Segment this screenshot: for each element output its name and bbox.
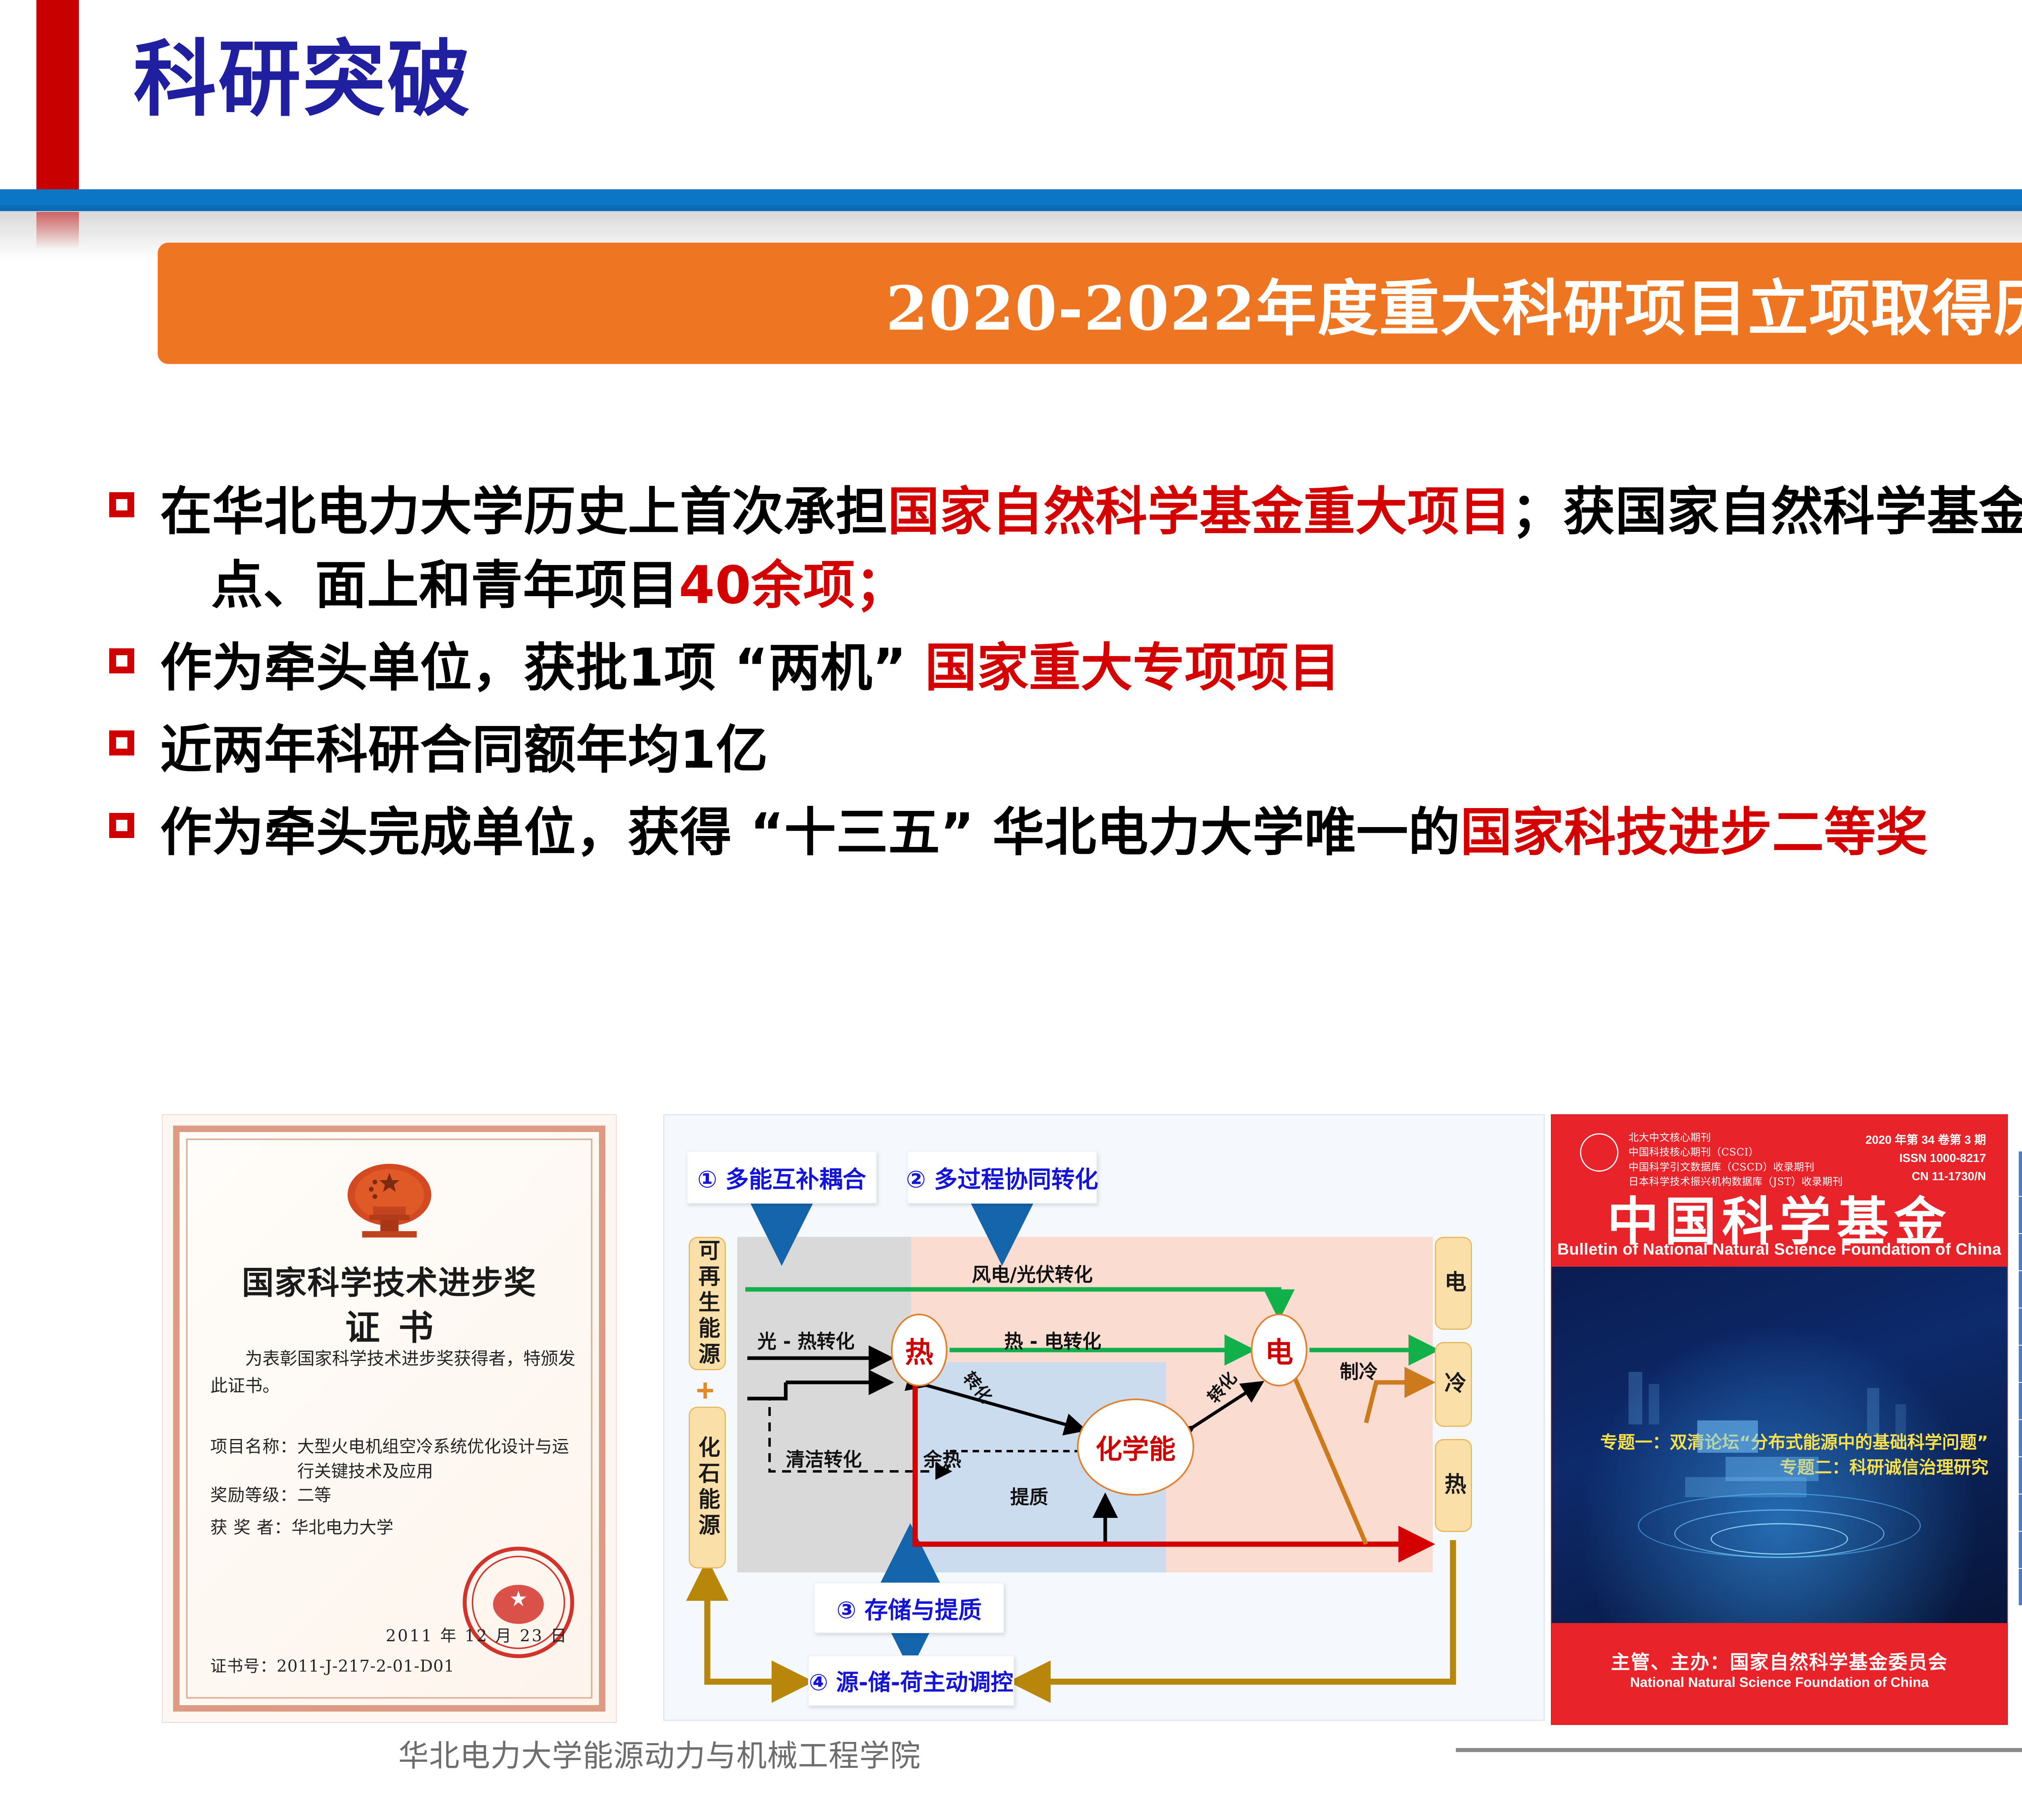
certificate-field-value: 华北电力大学 bbox=[292, 1515, 580, 1540]
diagram-label-wind-pv: 风电/光伏转化 bbox=[972, 1259, 1093, 1287]
banner-title: 2020-2022年度重大科研项目立项取得历史性突破 bbox=[886, 260, 2022, 347]
bullet-square-icon bbox=[109, 492, 134, 517]
certificate-field-recipient: 获 奖 者： 华北电力大学 bbox=[210, 1515, 580, 1540]
journal-issue-meta: 2020 年第 34 卷第 3 期 ISSN 1000-8217 CN 11-1… bbox=[1865, 1131, 1986, 1186]
journal-issue-line: 2020 年第 34 卷第 3 期 bbox=[1865, 1131, 1986, 1149]
diagram-label-photothermal: 光 - 热转化 bbox=[757, 1326, 854, 1354]
table-row-label: 马克思主义学院 bbox=[2018, 1568, 2022, 1606]
artwork-turbine bbox=[1867, 1388, 1879, 1437]
journal-index-badge-icon bbox=[1580, 1133, 1618, 1172]
table-row: 经济与管理学院9060139010451699549.40% bbox=[2018, 1308, 2022, 1345]
bullet-3-line1-pre: 近两年科研合同额年均1亿 bbox=[160, 720, 768, 780]
certificate-number-value: 2011-J-217-2-01-D01 bbox=[277, 1657, 455, 1676]
diagram-stage-1: ① 多能互补耦合 bbox=[687, 1151, 877, 1204]
bullet-text: 近两年科研合同额年均1亿 bbox=[160, 713, 768, 787]
certificate-number-key: 证书号： bbox=[210, 1657, 277, 1676]
diagram-label-upgrade: 提质 bbox=[1010, 1481, 1048, 1509]
bullet-text: 作为牵头完成单位，获得 “十三五” 华北电力大学唯一的国家科技进步二等奖 bbox=[160, 796, 1928, 870]
bullet-2-line1-highlight: 国家重大专项项目 bbox=[925, 638, 1341, 698]
diagram-plus-icon: + bbox=[696, 1374, 715, 1406]
table-row-label: 环境科学与工程学院 bbox=[2018, 1420, 2022, 1457]
slide-header: 科研突破 1858 华北电力大学 NORTH CHINA ELECTRIC PO… bbox=[0, 0, 2022, 210]
journal-index-item: 中国科技核心期刊（CSCI） bbox=[1629, 1145, 1843, 1160]
table-row-label: 电气与电子工程学院 bbox=[2018, 1196, 2022, 1234]
bullet-item: 作为牵头单位，获批1项 “两机” 国家重大专项项目 bbox=[109, 631, 2022, 705]
certificate-body-text: 为表彰国家科学技术进步奖获得者，特颁发此证书。 bbox=[210, 1346, 575, 1399]
table-row-label: 人文与社会科学学院 bbox=[2018, 1494, 2022, 1531]
bullet-square-icon bbox=[109, 648, 134, 673]
table-row-label: 外国语学院 bbox=[2018, 1531, 2022, 1568]
journal-footer-band: 主管、主办：国家自然科学基金委员会 National Natural Scien… bbox=[1552, 1623, 2007, 1724]
diagram-stage-3: ③ 存储与提质 bbox=[814, 1583, 1004, 1633]
journal-index-item: 北大中文核心期刊 bbox=[1629, 1130, 1843, 1145]
bullet-item: 在华北电力大学历史上首次承担国家自然科学基金重大项目；获国家自然科学基金重 点、… bbox=[109, 475, 2022, 622]
certificate-field-value: 二等 bbox=[297, 1483, 580, 1508]
certificate-number: 证书号：2011-J-217-2-01-D01 bbox=[210, 1653, 455, 1676]
certificate-field-project: 项目名称： 大型火电机组空冷系统优化设计与运行关键技术及应用 bbox=[210, 1435, 580, 1484]
bullet-item: 作为牵头完成单位，获得 “十三五” 华北电力大学唯一的国家科技进步二等奖 bbox=[109, 796, 2022, 870]
artwork-tower bbox=[1629, 1372, 1642, 1424]
certificate-body: 为表彰国家科学技术进步奖获得者，特颁发此证书。 bbox=[210, 1346, 575, 1399]
header-blue-rule-shadow bbox=[0, 205, 2022, 211]
table-row: 核科学与工程学院131725813897331417.60% bbox=[2018, 1382, 2022, 1420]
bullet-1-line1-highlight: 国家自然科学基金重大项目 bbox=[888, 482, 1511, 542]
header-blue-rule bbox=[0, 189, 2022, 205]
table-corner-label: 北京 bbox=[2018, 1151, 2022, 1196]
slide-footer: 华北电力大学能源动力与机械工程学院 Page.30 bbox=[0, 1719, 2022, 1820]
artwork-turbine bbox=[1895, 1404, 1906, 1445]
table-row: 马克思主义学院22567816387.50% bbox=[2018, 1568, 2022, 1606]
journal-title-en: Bulletin of National Natural Science Fou… bbox=[1552, 1240, 2007, 1259]
table-header: 北京 2020年 2019年 总经费 经费增长率 横向 纵向 合计 bbox=[2018, 1151, 2022, 1196]
artwork-block bbox=[1697, 1420, 1758, 1453]
table-row-label: 新能源学院+水利与水电工程学院 bbox=[2018, 1345, 2022, 1382]
journal-index-item: 中国科学引文数据库（CSCD）收录期刊 bbox=[1629, 1160, 1843, 1175]
diagram-label-refrigeration: 制冷 bbox=[1340, 1356, 1378, 1384]
table-row: 外国语学院1001021-51.43% bbox=[2018, 1531, 2022, 1568]
certificate-subtitle: 证书 bbox=[163, 1299, 616, 1350]
bullet-1-line2-highlight: 40余项； bbox=[679, 555, 907, 616]
bullet-1-line1-pre: 在华北电力大学历史上首次承担 bbox=[160, 482, 888, 542]
national-emblem-icon bbox=[335, 1155, 444, 1249]
footer-rule bbox=[1456, 1748, 2022, 1752]
table-row: 能源动力与机械工程学院35206833103543776174.23% bbox=[2018, 1234, 2022, 1271]
diagram-input-fossil: 化石能源 bbox=[689, 1407, 726, 1568]
certificate-field-key: 奖励等级： bbox=[210, 1483, 297, 1508]
bullet-list: 在华北电力大学历史上首次承担国家自然科学基金重大项目；获国家自然科学基金重 点、… bbox=[109, 475, 2022, 878]
certificate-field-level: 奖励等级： 二等 bbox=[210, 1483, 580, 1508]
table-row: 环境科学与工程学院101316202633230414.28% bbox=[2018, 1420, 2022, 1457]
certificate-field-key: 项目名称： bbox=[210, 1435, 297, 1484]
bullet-text: 作为牵头单位，获批1项 “两机” 国家重大专项项目 bbox=[160, 631, 1341, 705]
award-certificate-image: 国家科学技术进步奖 证书 为表彰国家科学技术进步奖获得者，特颁发此证书。 项目名… bbox=[162, 1114, 617, 1723]
bullet-1-line1-post: ；获国家自然科学基金重 bbox=[1511, 482, 2022, 542]
artwork-block bbox=[1685, 1477, 1806, 1497]
research-funding-table: 北京 2020年 2019年 总经费 经费增长率 横向 纵向 合计 电气与电子工… bbox=[2018, 1151, 2022, 1606]
table-row-label: 能源动力与机械工程学院 bbox=[2018, 1234, 2022, 1271]
diagram-label-clean-conv: 清洁转化 bbox=[786, 1444, 862, 1472]
evidence-row: 国家科学技术进步奖 证书 为表彰国家科学技术进步奖获得者，特颁发此证书。 项目名… bbox=[0, 1114, 2022, 1721]
bullet-text: 在华北电力大学历史上首次承担国家自然科学基金重大项目；获国家自然科学基金重 点、… bbox=[160, 475, 2022, 622]
table-row-label: 控制与计算机工程学院 bbox=[2018, 1271, 2022, 1308]
journal-publisher-cn: 主管、主办：国家自然科学基金委员会 bbox=[1552, 1646, 2007, 1674]
page-title: 科研突破 bbox=[133, 38, 472, 121]
table-row-label: 数理学院 bbox=[2018, 1457, 2022, 1494]
diagram-output-heat: 热 bbox=[1435, 1439, 1472, 1532]
footer-school-name: 华北电力大学能源动力与机械工程学院 bbox=[398, 1731, 921, 1775]
diagram-stage-2: ② 多过程协同转化 bbox=[907, 1151, 1097, 1204]
diagram-output-cooling: 冷 bbox=[1435, 1342, 1472, 1427]
table-row: 控制与计算机工程学院5040250275428225-8.30% bbox=[2018, 1271, 2022, 1308]
diagram-input-renewable: 可再生能源 bbox=[689, 1237, 726, 1370]
bullet-2-line1-pre: 作为牵头单位，获批1项 “两机” bbox=[160, 638, 925, 698]
certificate-date: 2011 年 12 月 23 日 bbox=[386, 1623, 568, 1646]
table-row: 新能源学院+水利与水电工程学院332632026528438448.90% bbox=[2018, 1345, 2022, 1382]
diagram-node-heat: 热 bbox=[891, 1314, 948, 1386]
journal-topic-1: 专题一：双清论坛“分布式能源中的基础科学问题” bbox=[1600, 1428, 1988, 1454]
certificate-title: 国家科学技术进步奖 bbox=[163, 1257, 616, 1303]
diagram-node-chemical-energy: 化学能 bbox=[1077, 1399, 1194, 1496]
table-row-label: 经济与管理学院 bbox=[2018, 1308, 2022, 1345]
table-row: 电气与电子工程学院1204840941614218170-11.16% bbox=[2018, 1196, 2022, 1234]
bullet-4-line1-highlight: 国家科技进步二等奖 bbox=[1460, 802, 1928, 863]
bullet-4-line1-pre: 作为牵头完成单位，获得 “十三五” 华北电力大学唯一的 bbox=[160, 802, 1460, 863]
table-row: 数理学院138121260400-35.12% bbox=[2018, 1457, 2022, 1494]
header-red-bar-reflection bbox=[36, 212, 79, 249]
journal-cover-image: 北大中文核心期刊 中国科技核心期刊（CSCI） 中国科学引文数据库（CSCD）收… bbox=[1551, 1114, 2008, 1725]
certificate-field-key: 获 奖 者： bbox=[210, 1515, 292, 1540]
diagram-output-electricity: 电 bbox=[1435, 1237, 1472, 1330]
table-row: 人文与社会科学学院2607933926229.47% bbox=[2018, 1494, 2022, 1531]
diagram-label-heat-to-elec: 热 - 电转化 bbox=[1004, 1326, 1101, 1354]
table-body: 电气与电子工程学院1204840941614218170-11.16%能源动力与… bbox=[2018, 1196, 2022, 1606]
journal-publisher-en: National Natural Science Foundation of C… bbox=[1552, 1675, 2007, 1691]
artwork-ring bbox=[1711, 1523, 1848, 1555]
section-banner: 2020-2022年度重大科研项目立项取得历史性突破 bbox=[158, 243, 2022, 364]
artwork-tower bbox=[1649, 1384, 1659, 1424]
table-header-row-1: 北京 2020年 2019年 总经费 经费增长率 bbox=[2018, 1151, 2022, 1174]
journal-issn: ISSN 1000-8217 bbox=[1865, 1149, 1986, 1168]
certificate-field-value: 大型火电机组空冷系统优化设计与运行关键技术及应用 bbox=[297, 1435, 580, 1484]
table-row-label: 核科学与工程学院 bbox=[2018, 1382, 2022, 1420]
diagram-node-electricity: 电 bbox=[1251, 1314, 1307, 1386]
bullet-square-icon bbox=[109, 813, 134, 838]
energy-system-diagram: 可再生能源 + 化石能源 电 冷 热 热 电 化学能 风电/光伏转化 光 - 热… bbox=[663, 1114, 1545, 1721]
bullet-1-line2-pre: 点、面上和青年项目 bbox=[160, 555, 679, 616]
diagram-stage-4: ④ 源-储-荷主动调控 bbox=[808, 1655, 1014, 1706]
diagram-label-waste-heat: 余热 bbox=[923, 1444, 961, 1472]
bullet-item: 近两年科研合同额年均1亿 bbox=[109, 713, 2022, 787]
journal-cover-artwork: 专题一：双清论坛“分布式能源中的基础科学问题” 专题二：科研诚信治理研究 bbox=[1552, 1267, 2007, 1625]
bullet-square-icon bbox=[109, 730, 134, 756]
header-red-accent-bar bbox=[36, 0, 79, 190]
